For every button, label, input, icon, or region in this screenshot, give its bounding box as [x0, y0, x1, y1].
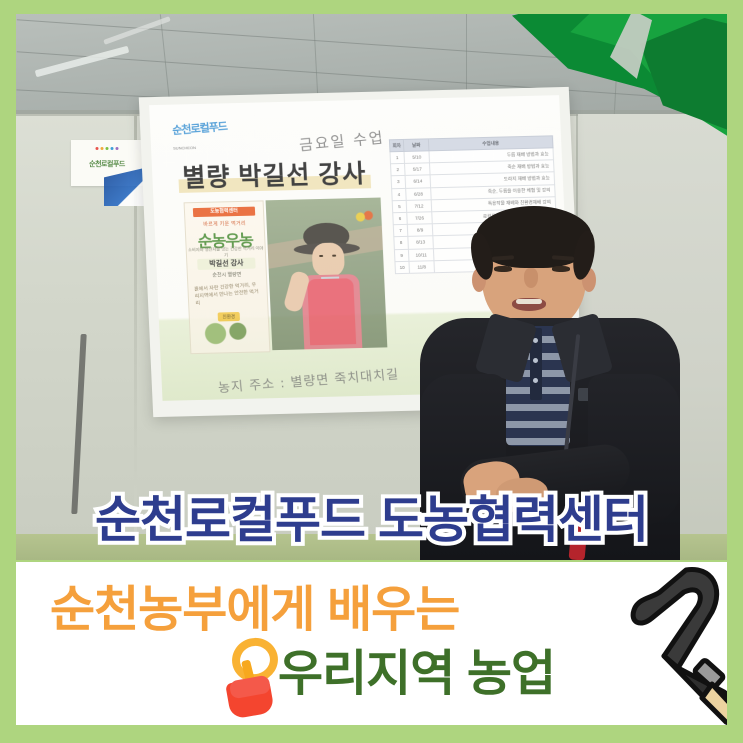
table-cell: 8 [394, 237, 409, 250]
shovel-icon [212, 636, 284, 716]
col-session: 회차 [389, 139, 404, 151]
book-tag: 도농협력센터 [193, 207, 255, 218]
table-cell: 7 [393, 224, 408, 237]
col-date: 날짜 [403, 139, 429, 152]
slide-handwritten-top: 금요일 수업 [298, 126, 386, 155]
book-vegetable-image [194, 317, 265, 349]
book-author: 박길선 강사 [197, 258, 255, 270]
banner-title-bar: 순천로컬푸드 도농협력센터 [16, 470, 727, 562]
table-cell: 1 [390, 151, 405, 164]
frame-top [0, 0, 743, 14]
headline-line-2: 우리지역 농업 [278, 634, 555, 705]
book-cover: 도농협력센터 바르게 키운 먹거리 순농우농 소비자와 생산자를 잇는 건강한 … [184, 200, 271, 354]
poster-root: 순천로컬푸드 순천로컬푸드 SUNCHEON 금요일 수업 별량 박길선 강사 … [0, 0, 743, 743]
book-note: 흙에서 자란 건강한 먹거리, 우리지역에서 만나는 안전한 먹거리 [194, 282, 262, 308]
book-organization: 순천시 별량면 [188, 270, 266, 279]
table-cell: 5/17 [405, 163, 431, 176]
table-cell: 4 [392, 188, 407, 201]
table-cell: 6/14 [405, 175, 431, 188]
slide-logo: 순천로컬푸드 SUNCHEON [172, 119, 233, 144]
table-cell: 3 [391, 176, 406, 189]
slide-child-photo [266, 198, 388, 351]
slide-title: 별량 박길선 강사 [178, 154, 372, 195]
wall-poster-dots [96, 147, 119, 150]
slide-handwritten-bottom: 농지 주소 : 별량면 죽치대치길 [217, 363, 400, 396]
table-cell: 5/10 [404, 151, 430, 164]
hoe-icon [612, 564, 727, 725]
table-cell: 5 [392, 200, 407, 213]
slide-logo-sub: SUNCHEON [173, 145, 196, 151]
page-title: 순천로컬푸드 도농협력센터 [95, 480, 648, 552]
wall-poster-logo: 순천로컬푸드 [89, 159, 125, 169]
frame-right [727, 0, 743, 743]
headline-card: 순천농부에게 배우는 우리지역 농업 [16, 562, 727, 725]
table-cell: 6/28 [406, 187, 432, 200]
table-cell: 9 [394, 249, 409, 262]
frame-left [0, 0, 16, 743]
table-cell: 10 [395, 261, 410, 274]
table-cell: 2 [391, 164, 406, 177]
ceiling-light [35, 46, 130, 78]
headline-line-1: 순천농부에게 배우는 [50, 570, 459, 641]
frame-bottom [0, 725, 743, 743]
slide-logo-text: 순천로컬푸드 [172, 118, 233, 139]
table-cell: 6 [393, 212, 408, 225]
